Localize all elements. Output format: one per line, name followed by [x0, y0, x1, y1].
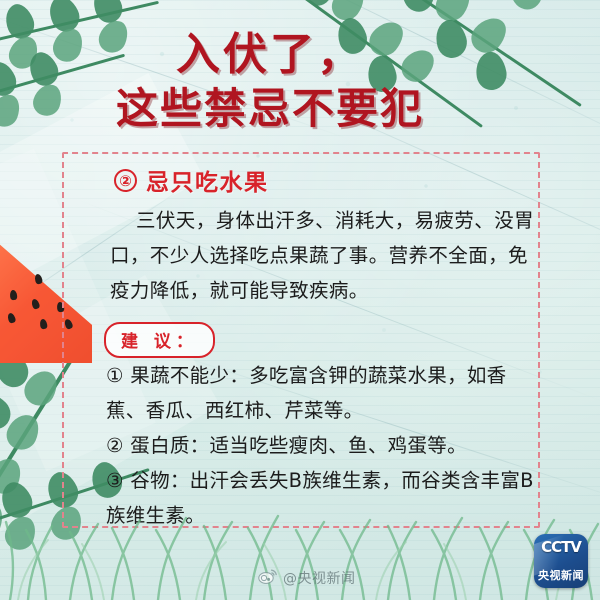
weibo-icon — [258, 568, 278, 588]
eucalyptus-sprig-icon — [378, 0, 600, 110]
section-number-badge: ② — [114, 169, 137, 192]
advice-list: ① 果蔬不能少：多吃富含钾的蔬菜水果，如香蕉、香瓜、西红柿、芹菜等。 ② 蛋白质… — [106, 358, 546, 533]
weibo-watermark: @央视新闻 — [258, 568, 356, 588]
infographic-poster: 入伏了， 这些禁忌不要犯 ② 忌只吃水果 三伏天，身体出汗多、消耗大，易疲劳、没… — [0, 0, 600, 600]
weibo-handle: @央视新闻 — [283, 568, 356, 588]
page-title: 入伏了， 这些禁忌不要犯 — [0, 28, 540, 136]
list-item: ③ 谷物：出汗会丢失B族维生素，而谷类含丰富B族维生素。 — [106, 463, 546, 533]
title-line-2: 这些禁忌不要犯 — [0, 82, 540, 136]
section-paragraph: 三伏天，身体出汗多、消耗大，易疲劳、没胃口，不少人选择吃点果蔬了事。营养不全面，… — [110, 203, 544, 308]
list-item: ② 蛋白质：适当吃些瘦肉、鱼、鸡蛋等。 — [106, 428, 546, 463]
section-heading-text: 忌只吃水果 — [146, 163, 269, 197]
eucalyptus-sprig-icon — [290, 0, 530, 114]
advice-label-badge: 建 议： — [104, 322, 215, 358]
title-line-1: 入伏了， — [0, 28, 540, 82]
cctv-logo-subtext: 央视新闻 — [534, 567, 588, 583]
list-item: ① 果蔬不能少：多吃富含钾的蔬菜水果，如香蕉、香瓜、西红柿、芹菜等。 — [106, 358, 546, 428]
paper-crease — [0, 2, 349, 140]
section-heading: ② 忌只吃水果 — [114, 163, 269, 197]
eucalyptus-sprig-icon — [0, 62, 142, 152]
paper-crease — [151, 0, 600, 177]
cctv-logo-badge: CCTV 央视新闻 — [534, 534, 588, 588]
cctv-logo-text: CCTV — [534, 536, 588, 558]
eucalyptus-sprig-icon — [0, 8, 184, 98]
